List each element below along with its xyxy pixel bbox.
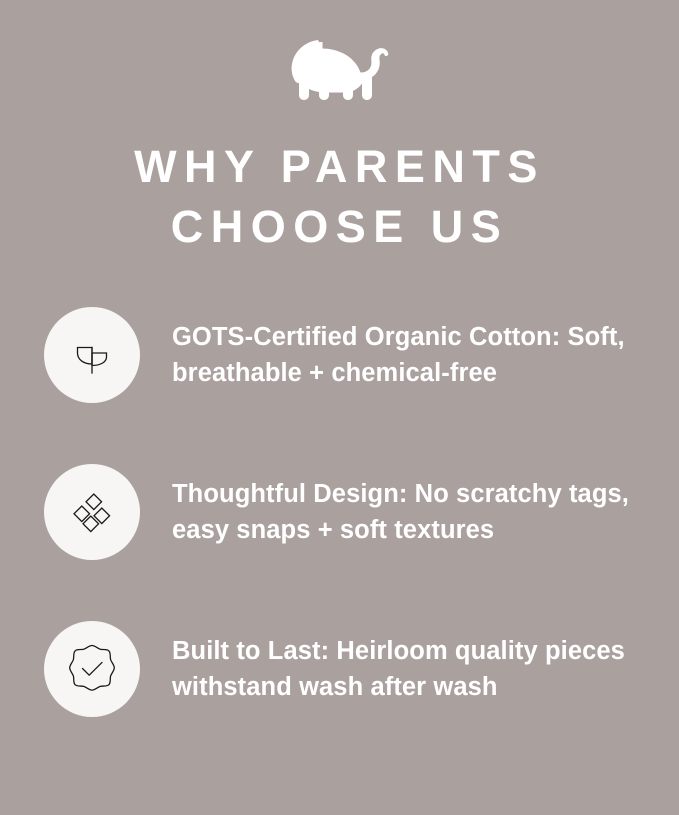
list-item: Thoughtful Design: No scratchy tags, eas… xyxy=(44,464,644,560)
list-item: Built to Last: Heirloom quality pieces w… xyxy=(44,621,644,717)
list-item-label: Thoughtful Design: No scratchy tags, eas… xyxy=(172,476,642,548)
why-parents-choose-us-panel: WHY PARENTS CHOOSE US GOTS-Certified Org… xyxy=(0,0,679,815)
feature-icon-badge xyxy=(44,307,140,403)
list-item: GOTS-Certified Organic Cotton: Soft, bre… xyxy=(44,307,644,403)
scalloped-badge-check-icon xyxy=(64,641,120,697)
page-title: WHY PARENTS CHOOSE US xyxy=(0,137,679,257)
elephant-icon xyxy=(291,36,389,104)
feature-list: GOTS-Certified Organic Cotton: Soft, bre… xyxy=(44,307,644,717)
brand-logo xyxy=(0,34,679,106)
list-item-label: GOTS-Certified Organic Cotton: Soft, bre… xyxy=(172,319,642,391)
feature-icon-badge xyxy=(44,464,140,560)
feature-icon-badge xyxy=(44,621,140,717)
list-item-label: Built to Last: Heirloom quality pieces w… xyxy=(172,633,642,705)
sprout-icon xyxy=(69,332,115,378)
four-diamonds-icon xyxy=(69,489,115,535)
